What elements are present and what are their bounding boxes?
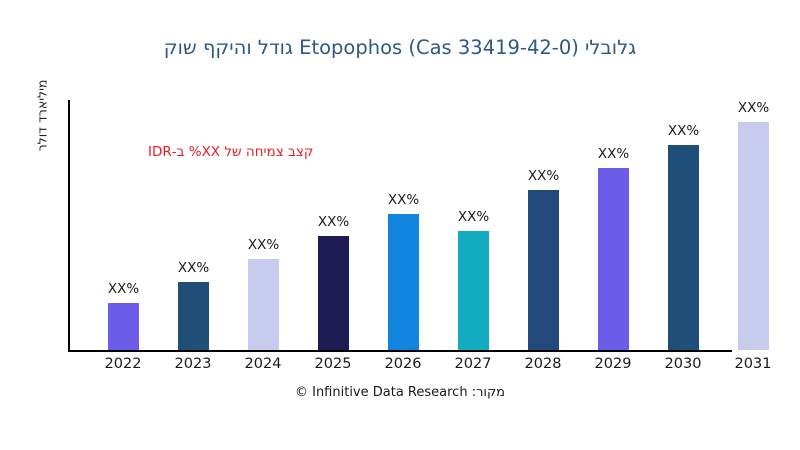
bar-value-2028: XX% — [528, 170, 559, 184]
x-axis-line — [68, 350, 732, 352]
xtick-2024: 2024 — [233, 356, 293, 372]
xtick-2030: 2030 — [653, 356, 713, 372]
bar-2028[interactable] — [528, 190, 559, 350]
bar-value-2025: XX% — [318, 216, 349, 230]
bar-2027[interactable] — [458, 231, 489, 350]
x-axis-tick-labels: 2022 2023 2024 2025 2026 2027 2028 2029 … — [68, 356, 788, 378]
bar-2023[interactable] — [178, 282, 209, 350]
bar-value-2024: XX% — [248, 239, 279, 253]
xtick-2029: 2029 — [583, 356, 643, 372]
bar-2030[interactable] — [668, 145, 699, 350]
bar-value-2031: XX% — [738, 102, 769, 116]
bar-2026[interactable] — [388, 214, 419, 350]
bar-value-2030: XX% — [668, 125, 699, 139]
bar-2031[interactable] — [738, 122, 769, 350]
chart-container: גלובלי Etopophos (Cas 33419-42-0) גודל ו… — [0, 0, 800, 450]
xtick-2028: 2028 — [513, 356, 573, 372]
bar-value-2027: XX% — [458, 211, 489, 225]
bar-2022[interactable] — [108, 303, 139, 350]
bar-value-2022: XX% — [108, 283, 139, 297]
xtick-2025: 2025 — [303, 356, 363, 372]
bar-value-2023: XX% — [178, 262, 209, 276]
bar-2025[interactable] — [318, 236, 349, 350]
xtick-2031: 2031 — [723, 356, 783, 372]
xtick-2022: 2022 — [93, 356, 153, 372]
bar-value-2029: XX% — [598, 148, 629, 162]
y-axis-label: מיליארד דולר — [35, 36, 50, 196]
chart-title: גלובלי Etopophos (Cas 33419-42-0) גודל ו… — [0, 36, 800, 59]
xtick-2023: 2023 — [163, 356, 223, 372]
bar-2029[interactable] — [598, 168, 629, 350]
source-footer: מקור: Infinitive Data Research © — [0, 385, 800, 400]
bars-layer: XX% XX% XX% XX% XX% XX% XX% XX% — [68, 100, 788, 350]
bar-value-2026: XX% — [388, 194, 419, 208]
xtick-2026: 2026 — [373, 356, 433, 372]
xtick-2027: 2027 — [443, 356, 503, 372]
bar-2024[interactable] — [248, 259, 279, 350]
